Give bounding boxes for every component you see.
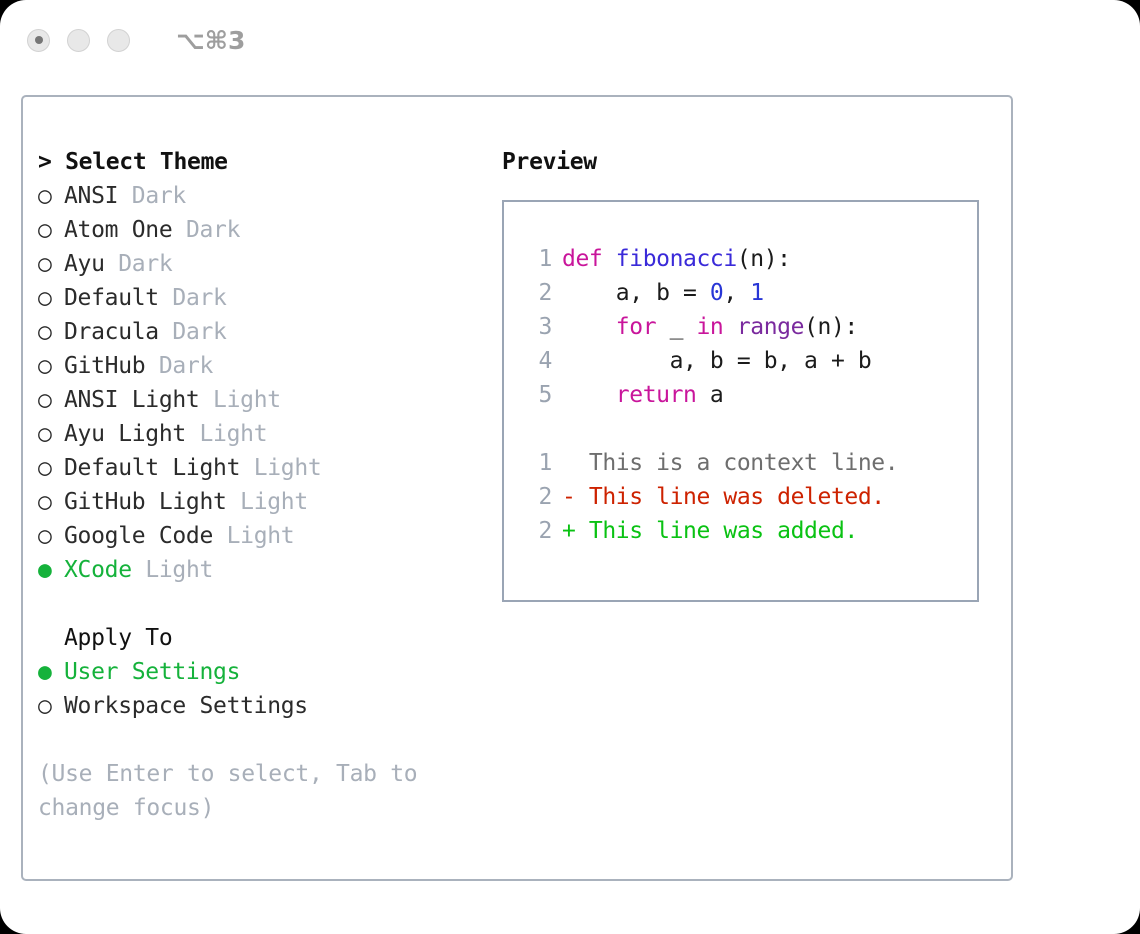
window-controls <box>27 29 130 52</box>
theme-option-tag: Dark <box>186 217 240 243</box>
radio-unselected-icon: ○ <box>38 179 64 213</box>
code-token: range <box>737 314 804 340</box>
spacer <box>105 251 119 277</box>
diff-text: This line was deleted. <box>589 484 885 510</box>
theme-option-label: Dracula <box>64 319 159 345</box>
radio-unselected-icon: ○ <box>38 689 64 723</box>
radio-unselected-icon: ○ <box>38 417 64 451</box>
theme-option-ayu[interactable]: ○Ayu Dark <box>38 247 488 281</box>
apply-to-option-label: Workspace Settings <box>64 693 308 719</box>
apply-to-option-label: User Settings <box>64 659 240 685</box>
window-dot-active[interactable] <box>27 29 50 52</box>
spacer <box>159 319 173 345</box>
code-token: a, b = <box>562 280 710 306</box>
code-line-number: 2 <box>524 276 552 310</box>
radio-unselected-icon: ○ <box>38 213 64 247</box>
code-line: 1def fibonacci(n): <box>524 242 977 276</box>
code-token: (n): <box>804 314 858 340</box>
code-token: return <box>616 382 697 408</box>
theme-option-label: Atom One <box>64 217 172 243</box>
keyboard-shortcut-label: ⌥⌘3 <box>176 26 245 55</box>
code-token: in <box>696 314 723 340</box>
theme-option-label: ANSI Light <box>64 387 199 413</box>
spacer <box>159 285 173 311</box>
preview-box: 1def fibonacci(n):2 a, b = 0, 13 for _ i… <box>502 200 979 602</box>
diff-text: This is a context line. <box>589 450 898 476</box>
code-line-number: 4 <box>524 344 552 378</box>
code-token <box>723 314 736 340</box>
theme-option-tag: Dark <box>159 353 213 379</box>
diff-line: 2+ This line was added. <box>524 514 977 548</box>
spacer <box>240 455 254 481</box>
theme-option-label: Google Code <box>64 523 213 549</box>
apply-to-option-user-settings[interactable]: ●User Settings <box>38 655 488 689</box>
theme-option-tag: Light <box>254 455 322 481</box>
diff-line: 1 This is a context line. <box>524 446 977 480</box>
diff-line: 2- This line was deleted. <box>524 480 977 514</box>
code-line-number: 3 <box>524 310 552 344</box>
diff-sign: - <box>562 484 589 510</box>
theme-option-default-light[interactable]: ○Default Light Light <box>38 451 488 485</box>
spacer <box>227 489 241 515</box>
radio-unselected-icon: ○ <box>38 485 64 519</box>
theme-option-ansi-light[interactable]: ○ANSI Light Light <box>38 383 488 417</box>
diff-text: This line was added. <box>589 518 858 544</box>
diff-line-number: 1 <box>524 446 552 480</box>
code-token: , <box>723 280 750 306</box>
spacer <box>38 587 488 621</box>
diff-sample: 1 This is a context line.2- This line wa… <box>524 446 977 548</box>
code-token <box>562 382 616 408</box>
diff-line-number: 2 <box>524 480 552 514</box>
spacer <box>186 421 200 447</box>
title-bar: ⌥⌘3 <box>0 0 1140 80</box>
radio-unselected-icon: ○ <box>38 383 64 417</box>
diff-sign: + <box>562 518 589 544</box>
theme-picker-column: > Select Theme ○ANSI Dark○Atom One Dark○… <box>38 145 488 825</box>
theme-option-label: Default Light <box>64 455 240 481</box>
keyboard-hint: (Use Enter to select, Tab to change focu… <box>38 757 448 825</box>
theme-option-tag: Light <box>213 387 281 413</box>
theme-option-ansi[interactable]: ○ANSI Dark <box>38 179 488 213</box>
spacer <box>213 523 227 549</box>
code-line: 2 a, b = 0, 1 <box>524 276 977 310</box>
code-line: 3 for _ in range(n): <box>524 310 977 344</box>
code-token: a, b = b, a + b <box>562 348 871 374</box>
theme-option-label: XCode <box>64 557 132 583</box>
apply-to-option-workspace-settings[interactable]: ○Workspace Settings <box>38 689 488 723</box>
radio-unselected-icon: ○ <box>38 281 64 315</box>
theme-option-tag: Light <box>200 421 268 447</box>
theme-option-tag: Light <box>227 523 295 549</box>
apply-to-option-list: ●User Settings○Workspace Settings <box>38 655 488 723</box>
window-dot-active-inner <box>35 36 43 44</box>
theme-option-default[interactable]: ○Default Dark <box>38 281 488 315</box>
theme-option-github[interactable]: ○GitHub Dark <box>38 349 488 383</box>
code-sample: 1def fibonacci(n):2 a, b = 0, 13 for _ i… <box>524 242 977 412</box>
theme-option-dracula[interactable]: ○Dracula Dark <box>38 315 488 349</box>
spacer <box>172 217 186 243</box>
theme-option-list: ○ANSI Dark○Atom One Dark○Ayu Dark○Defaul… <box>38 179 488 587</box>
radio-unselected-icon: ○ <box>38 247 64 281</box>
radio-unselected-icon: ○ <box>38 349 64 383</box>
code-line-number: 5 <box>524 378 552 412</box>
theme-option-google-code[interactable]: ○Google Code Light <box>38 519 488 553</box>
radio-unselected-icon: ○ <box>38 519 64 553</box>
code-token: fibonacci <box>616 246 737 272</box>
theme-option-github-light[interactable]: ○GitHub Light Light <box>38 485 488 519</box>
code-token: a <box>696 382 723 408</box>
code-token: def <box>562 246 616 272</box>
code-token <box>562 314 616 340</box>
code-token: 1 <box>750 280 763 306</box>
theme-option-label: Default <box>64 285 159 311</box>
theme-option-label: ANSI <box>64 183 118 209</box>
code-token: _ <box>656 314 696 340</box>
radio-selected-icon: ● <box>38 655 64 689</box>
theme-option-tag: Light <box>240 489 308 515</box>
theme-option-label: Ayu Light <box>64 421 186 447</box>
code-diff-spacer <box>524 412 977 446</box>
window-dot-2[interactable] <box>67 29 90 52</box>
radio-unselected-icon: ○ <box>38 315 64 349</box>
spacer <box>145 353 159 379</box>
theme-option-tag: Dark <box>132 183 186 209</box>
radio-selected-icon: ● <box>38 553 64 587</box>
theme-option-tag: Dark <box>118 251 172 277</box>
code-token: 0 <box>710 280 723 306</box>
select-theme-heading: > Select Theme <box>38 145 488 179</box>
code-line: 4 a, b = b, a + b <box>524 344 977 378</box>
theme-option-label: GitHub <box>64 353 145 379</box>
spacer <box>199 387 213 413</box>
theme-option-tag: Light <box>145 557 213 583</box>
diff-sign <box>562 450 589 476</box>
theme-option-tag: Dark <box>172 285 226 311</box>
apply-to-heading: Apply To <box>38 621 488 655</box>
theme-option-ayu-light[interactable]: ○Ayu Light Light <box>38 417 488 451</box>
main-panel: > Select Theme ○ANSI Dark○Atom One Dark○… <box>21 95 1013 881</box>
theme-option-tag: Dark <box>172 319 226 345</box>
window-dot-3[interactable] <box>107 29 130 52</box>
diff-line-number: 2 <box>524 514 552 548</box>
spacer <box>118 183 132 209</box>
spacer <box>132 557 146 583</box>
code-token: (n): <box>737 246 791 272</box>
radio-unselected-icon: ○ <box>38 451 64 485</box>
theme-option-label: GitHub Light <box>64 489 227 515</box>
preview-heading: Preview <box>502 145 982 179</box>
theme-option-xcode[interactable]: ●XCode Light <box>38 553 488 587</box>
code-line: 5 return a <box>524 378 977 412</box>
theme-option-label: Ayu <box>64 251 105 277</box>
preview-column: Preview 1def fibonacci(n):2 a, b = 0, 13… <box>502 145 982 602</box>
code-token: for <box>616 314 656 340</box>
app-window: ⌥⌘3 > Select Theme ○ANSI Dark○Atom One D… <box>0 0 1140 934</box>
code-line-number: 1 <box>524 242 552 276</box>
theme-option-atom-one[interactable]: ○Atom One Dark <box>38 213 488 247</box>
